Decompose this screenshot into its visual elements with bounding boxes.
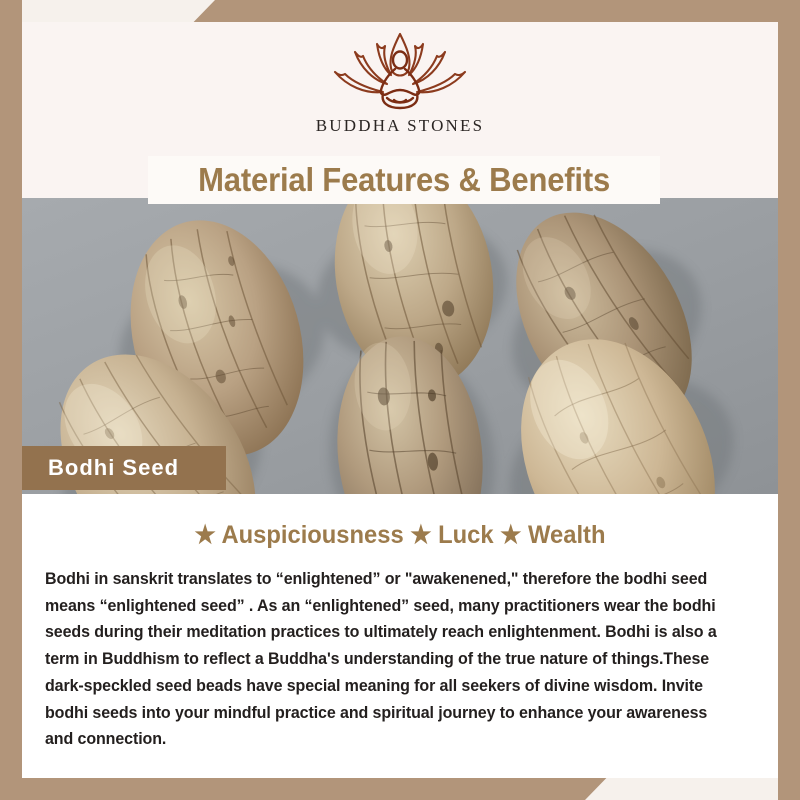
page-title: Material Features & Benefits — [198, 161, 610, 199]
material-tag-label: Bodhi Seed — [48, 455, 179, 481]
poster-root: BUDDHA STONES — [0, 0, 800, 800]
page-title-banner: Material Features & Benefits — [148, 156, 660, 204]
poster-card: BUDDHA STONES — [22, 22, 778, 778]
frame-left-border — [0, 0, 22, 800]
material-tag: Bodhi Seed — [22, 446, 226, 490]
description-section: ★ Auspiciousness ★ Luck ★ Wealth Bodhi i… — [22, 494, 778, 778]
benefits-headline: ★ Auspiciousness ★ Luck ★ Wealth — [41, 520, 759, 550]
brand-name: BUDDHA STONES — [316, 116, 485, 136]
brand-header: BUDDHA STONES — [22, 22, 778, 150]
lotus-meditation-icon — [325, 28, 475, 114]
frame-right-border — [778, 0, 800, 800]
brand-logo: BUDDHA STONES — [22, 28, 778, 136]
description-paragraph: Bodhi in sanskrit translates to “enlight… — [45, 566, 737, 753]
